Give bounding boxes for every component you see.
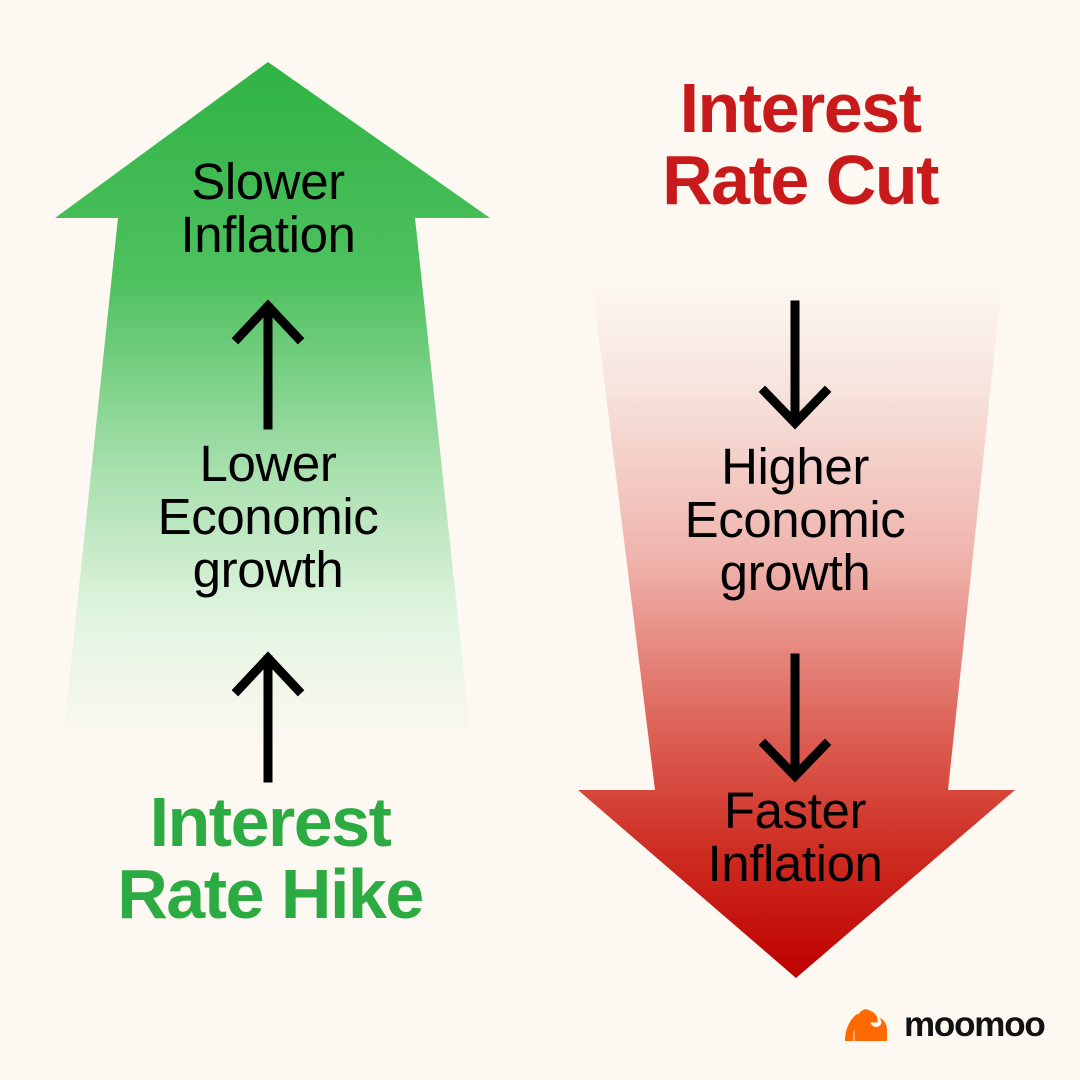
- bull-head-icon: [843, 1005, 895, 1043]
- arrow-up-icon: [238, 658, 298, 778]
- left-step-slower-inflation: Slower Inflation: [108, 155, 428, 261]
- arrow-down-icon: [765, 658, 825, 776]
- arrow-down-icon: [765, 305, 825, 423]
- moomoo-wordmark: moomoo: [904, 1007, 1045, 1042]
- moomoo-logo: moomoo: [843, 1003, 1045, 1045]
- arrow-up-icon: [238, 306, 298, 425]
- right-step-higher-economic-growth: Higher Economic growth: [625, 440, 965, 599]
- right-step-faster-inflation: Faster Inflation: [665, 784, 925, 890]
- left-step-lower-economic-growth: Lower Economic growth: [98, 437, 438, 596]
- right-headline-interest-rate-cut: Interest Rate Cut: [570, 72, 1030, 216]
- infographic-canvas: Slower Inflation Lower Economic growth I…: [0, 0, 1080, 1080]
- left-headline-interest-rate-hike: Interest Rate Hike: [40, 786, 500, 930]
